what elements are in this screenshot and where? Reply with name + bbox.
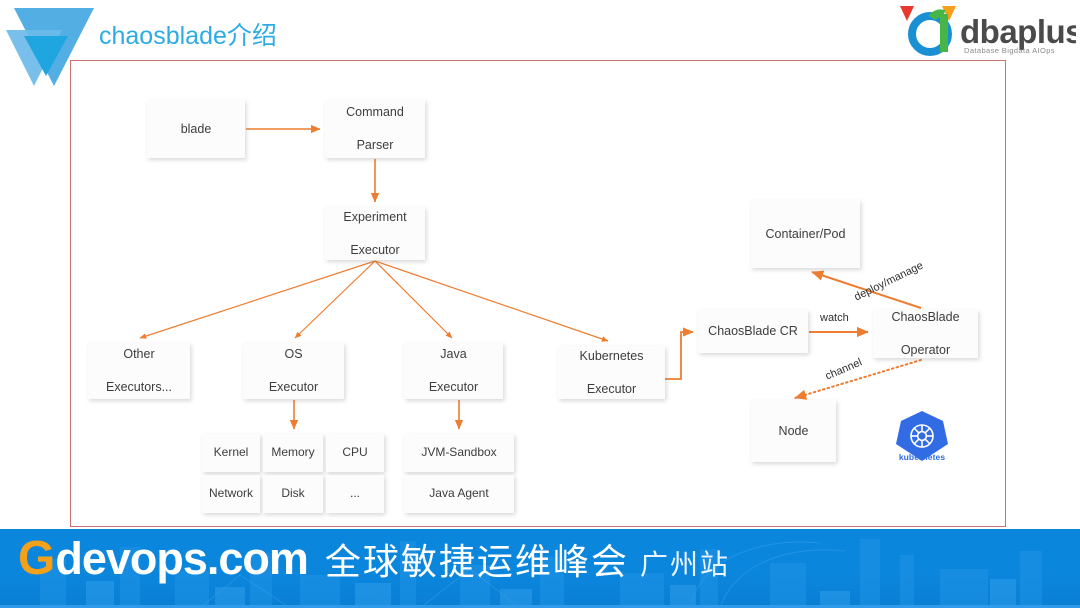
node-jvm-sandbox[interactable]: JVM-Sandbox [404, 434, 514, 472]
node-java-agent[interactable]: Java Agent [404, 475, 514, 513]
node-other-executors[interactable]: OtherExecutors... [88, 343, 190, 399]
node-label: ChaosBlade CR [708, 323, 798, 340]
node-os-executor[interactable]: OSExecutor [243, 343, 344, 399]
node-label-line2: Executor [343, 242, 406, 259]
node-label-line1: Java [429, 346, 478, 363]
node-label-line1: Experiment [343, 209, 406, 226]
node-label: Container/Pod [766, 226, 846, 243]
node-label: Network [209, 486, 253, 502]
node-label-line2: Executor [429, 379, 478, 396]
node-label-line1: Command [346, 104, 404, 121]
node-label: CPU [342, 445, 367, 461]
node-label-line1: OS [269, 346, 318, 363]
node-label-line1: Kubernetes [580, 348, 644, 365]
node-experiment-executor[interactable]: ExperimentExecutor [325, 207, 425, 260]
banner-g: G [18, 535, 55, 583]
edge-label-watch: watch [820, 312, 849, 324]
kubernetes-icon [893, 408, 951, 472]
node-label-line1: Other [106, 346, 172, 363]
node-more-ellipsis[interactable]: ... [326, 475, 384, 513]
banner-cn-sub: 广州站 [640, 552, 730, 580]
node-memory[interactable]: Memory [263, 434, 323, 472]
node-label-line1: ChaosBlade [891, 309, 959, 326]
node-command-parser[interactable]: CommandParser [325, 100, 425, 158]
banner-cn-main: 全球敏捷运维峰会 [325, 544, 629, 580]
node-chaosblade-cr[interactable]: ChaosBlade CR [698, 310, 808, 353]
node-chaosblade-operator[interactable]: ChaosBladeOperator [873, 310, 978, 358]
node-label-line2: Executors... [106, 379, 172, 396]
node-label-line2: Executor [580, 381, 644, 398]
node-node[interactable]: Node [751, 400, 836, 462]
node-java-executor[interactable]: JavaExecutor [404, 343, 503, 399]
node-label-line2: Parser [346, 137, 404, 154]
node-disk[interactable]: Disk [263, 475, 323, 513]
node-label: Memory [271, 445, 314, 461]
banner-wordmark: G devops.com 全球敏捷运维峰会 广州站 [18, 535, 730, 583]
node-label: Disk [281, 486, 304, 502]
node-label: blade [181, 121, 212, 138]
node-label-line2: Executor [269, 379, 318, 396]
banner-devops: devops.com [55, 536, 308, 581]
node-blade[interactable]: blade [147, 100, 245, 158]
node-label-line2: Operator [891, 342, 959, 359]
node-label: Kernel [214, 445, 249, 461]
node-label: ... [350, 486, 360, 502]
event-banner: G devops.com 全球敏捷运维峰会 广州站 [0, 529, 1080, 608]
node-cpu[interactable]: CPU [326, 434, 384, 472]
node-label: JVM-Sandbox [421, 445, 496, 461]
node-container-pod[interactable]: Container/Pod [751, 200, 860, 268]
node-kernel[interactable]: Kernel [202, 434, 260, 472]
node-label: Java Agent [429, 486, 488, 502]
node-network[interactable]: Network [202, 475, 260, 513]
node-label: Node [779, 423, 809, 440]
node-kubernetes-executor[interactable]: KubernetesExecutor [558, 346, 665, 399]
